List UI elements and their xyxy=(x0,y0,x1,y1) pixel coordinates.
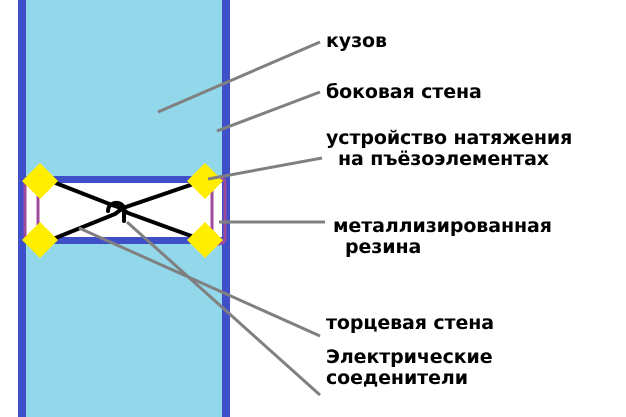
leader-line-side-wall xyxy=(217,92,320,131)
label-side-wall-line-1: боковая стена xyxy=(326,82,482,103)
label-body: кузов xyxy=(326,31,387,52)
label-end-wall: торцевая стена xyxy=(326,313,494,334)
technical-diagram xyxy=(0,0,626,417)
label-side-wall: боковая стена xyxy=(326,82,482,103)
label-tensioner: устройство натяжения на пъёзоэлементах xyxy=(326,128,572,170)
label-metallized-rubber-line-2: резина xyxy=(333,237,552,258)
diagram-canvas: кузов боковая стена устройство натяжения… xyxy=(0,0,626,417)
label-metallized-rubber-line-1: металлизированная xyxy=(333,216,552,237)
label-electrical-connectors-line-2: соеденители xyxy=(326,368,493,389)
label-body-line-1: кузов xyxy=(326,31,387,52)
label-metallized-rubber: металлизированная резина xyxy=(333,216,552,258)
label-tensioner-line-2: на пъёзоэлементах xyxy=(326,149,572,170)
label-electrical-connectors-line-1: Электрические xyxy=(326,347,493,368)
label-electrical-connectors: Электрические соеденители xyxy=(326,347,493,389)
label-end-wall-line-1: торцевая стена xyxy=(326,313,494,334)
label-tensioner-line-1: устройство натяжения xyxy=(326,128,572,149)
